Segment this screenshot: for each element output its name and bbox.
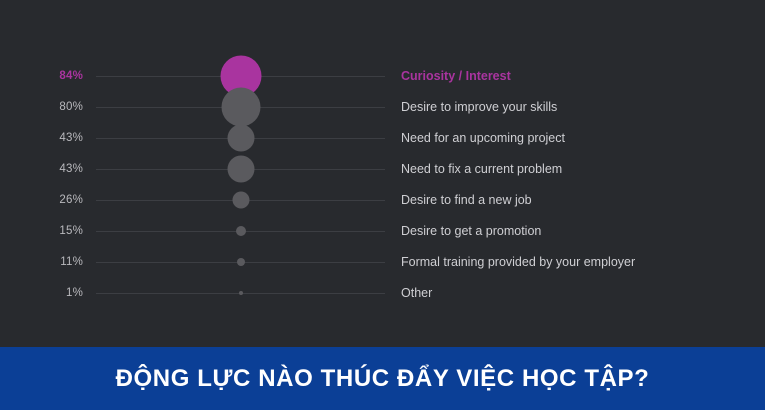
row-bubble-marker — [239, 291, 243, 295]
row-category-label: Need to fix a current problem — [401, 160, 562, 178]
banner: ĐỘNG LỰC NÀO THÚC ĐẨY VIỆC HỌC TẬP? — [0, 347, 765, 410]
row-category-label: Desire to find a new job — [401, 191, 532, 209]
banner-title: ĐỘNG LỰC NÀO THÚC ĐẨY VIỆC HỌC TẬP? — [116, 365, 650, 393]
row-percentage-value: 84% — [0, 68, 83, 84]
row-percentage-value: 26% — [0, 192, 83, 208]
bubble-chart: 84%Curiosity / Interest80%Desire to impr… — [0, 0, 765, 347]
row-bubble-marker — [222, 88, 261, 127]
row-category-label: Desire to improve your skills — [401, 98, 557, 116]
row-percentage-value: 43% — [0, 130, 83, 146]
row-percentage-value: 43% — [0, 161, 83, 177]
row-category-label: Desire to get a promotion — [401, 222, 541, 240]
row-category-label: Formal training provided by your employe… — [401, 253, 635, 271]
row-percentage-value: 15% — [0, 223, 83, 239]
row-category-label: Need for an upcoming project — [401, 129, 565, 147]
row-bubble-marker — [233, 192, 250, 209]
infographic-root: 84%Curiosity / Interest80%Desire to impr… — [0, 0, 765, 410]
row-bubble-marker — [237, 258, 245, 266]
row-percentage-value: 80% — [0, 99, 83, 115]
row-percentage-value: 11% — [0, 254, 83, 270]
row-bubble-marker — [228, 125, 255, 152]
row-bubble-marker — [228, 156, 255, 183]
row-bubble-marker — [236, 226, 246, 236]
row-category-label: Other — [401, 284, 432, 302]
row-category-label: Curiosity / Interest — [401, 67, 511, 85]
row-percentage-value: 1% — [0, 285, 83, 301]
